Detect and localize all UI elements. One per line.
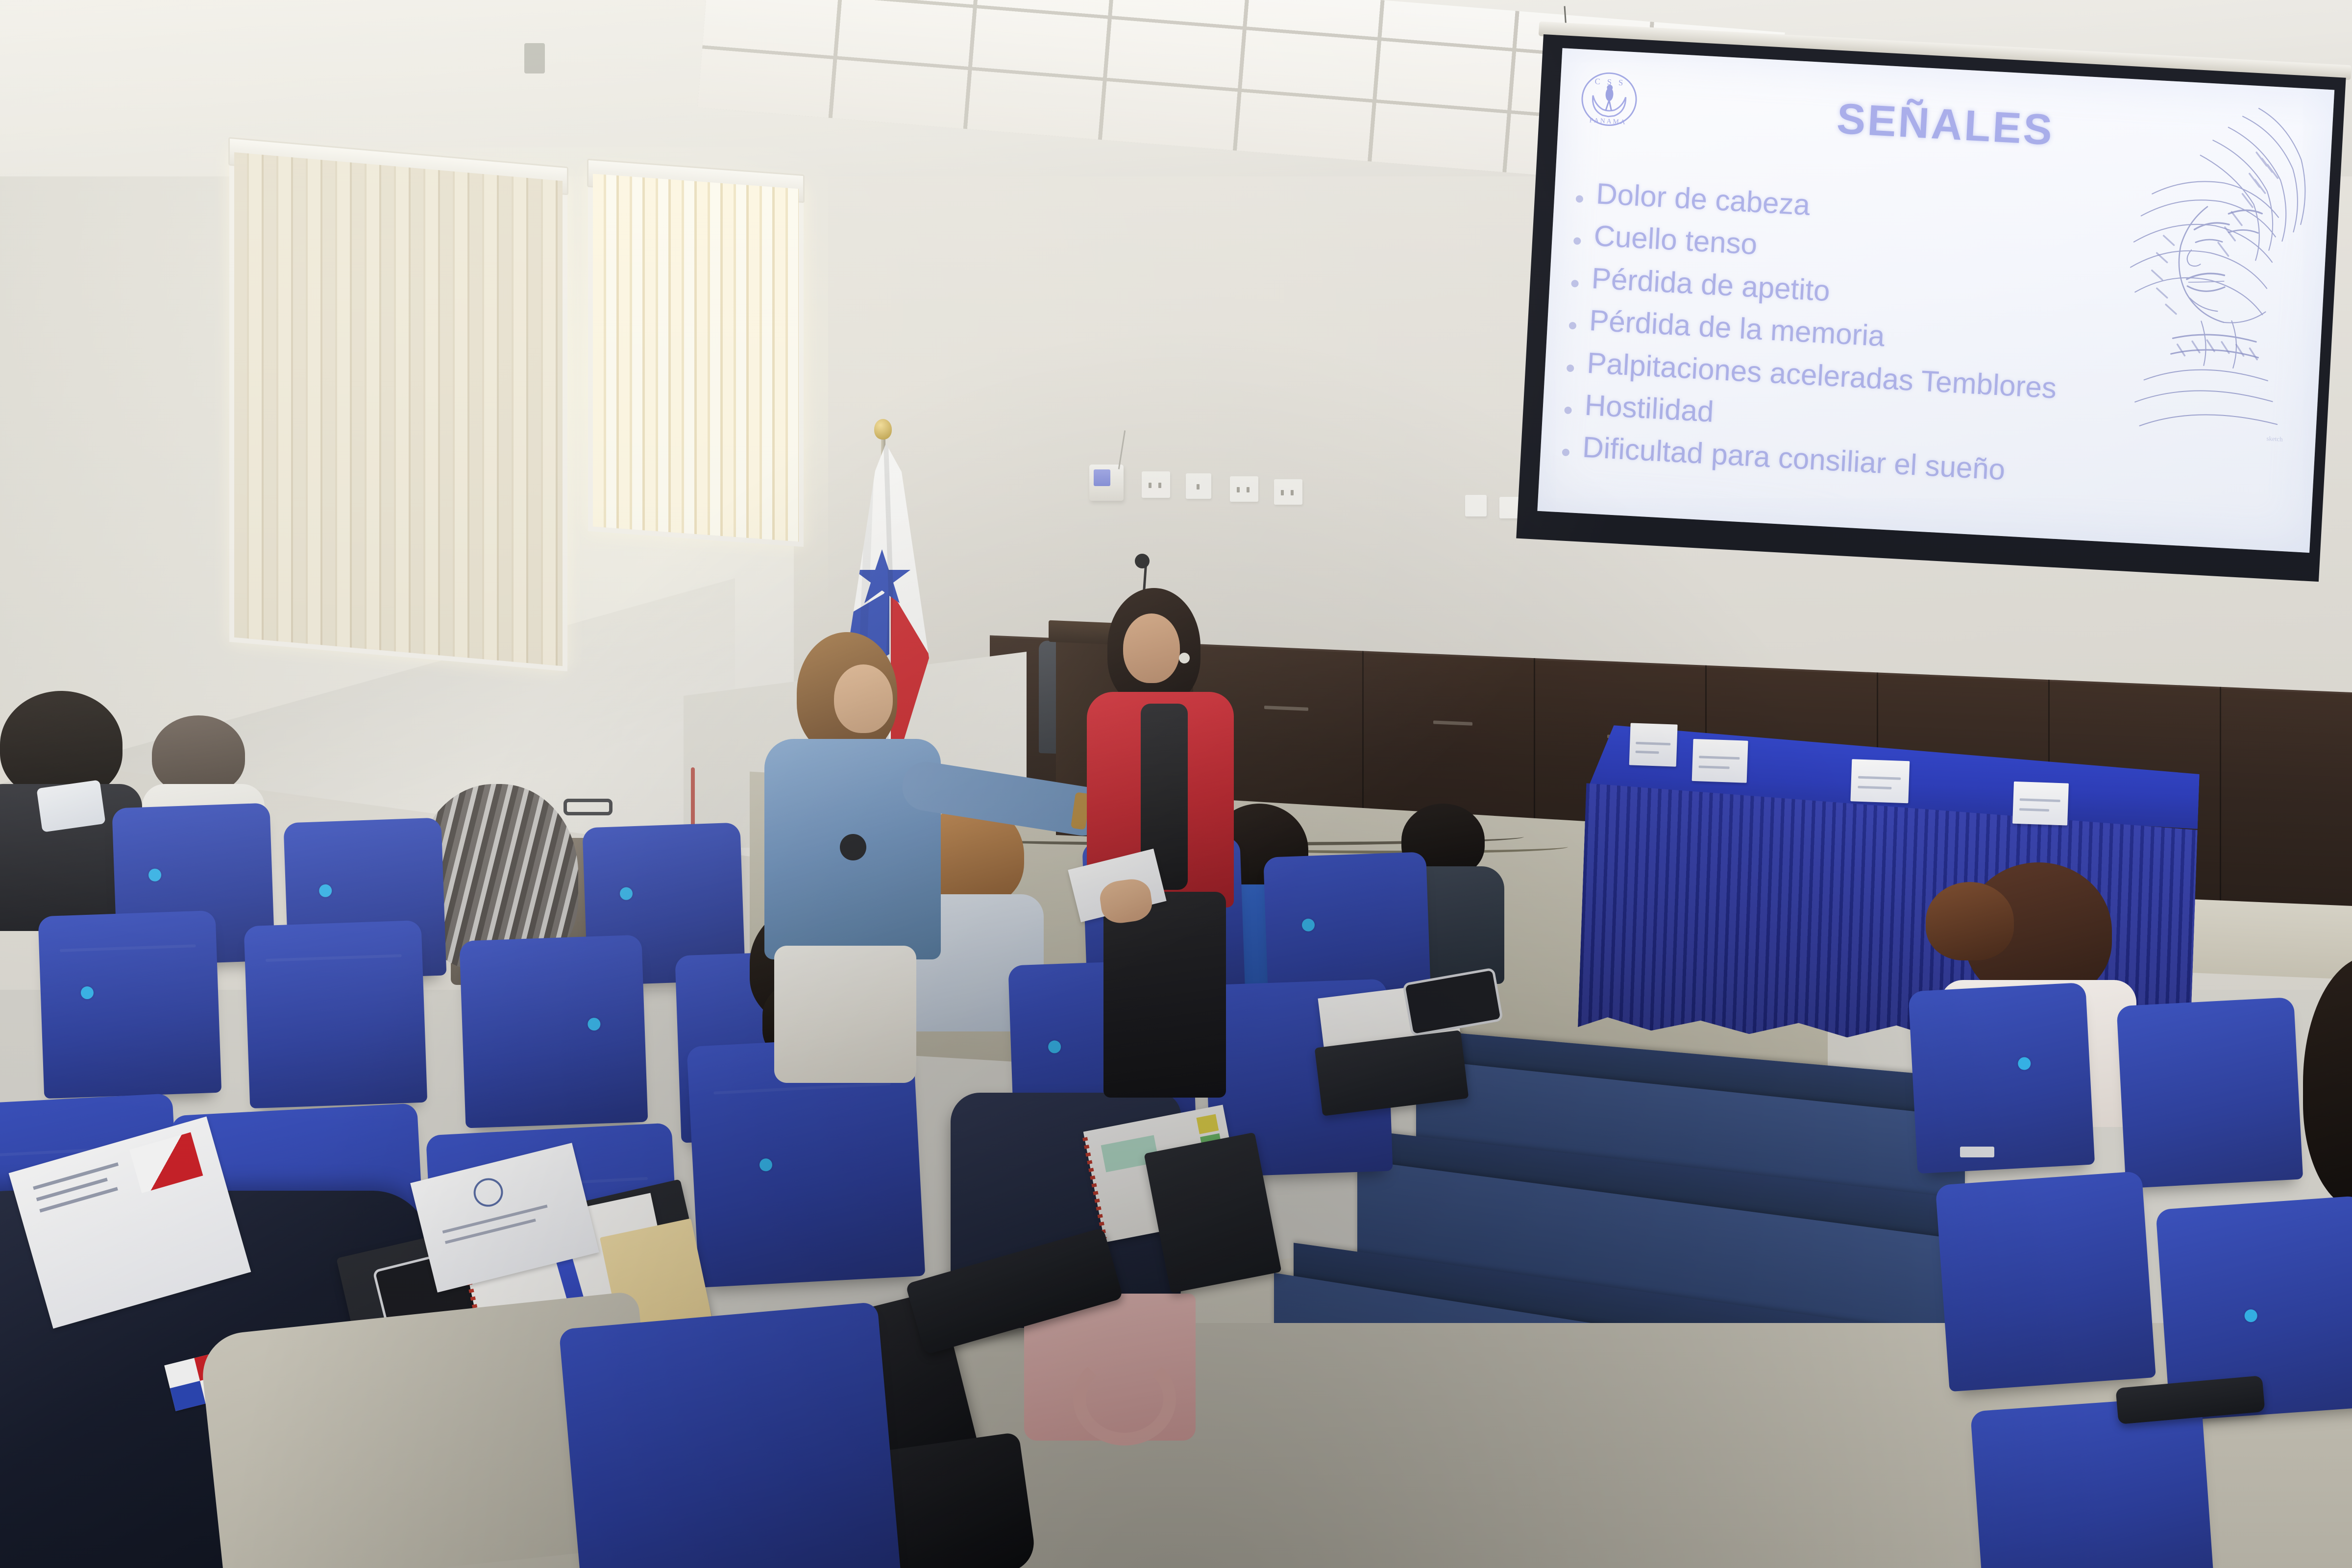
auditorium-seat[interactable] <box>1916 991 2087 1171</box>
bullet-dot-icon <box>1564 406 1572 414</box>
stress-face-sketch-illustration: sketch <box>2093 86 2323 469</box>
window-left <box>229 147 567 671</box>
shirt-collar <box>36 780 105 832</box>
handbag-strap-icon <box>1073 1352 1176 1445</box>
name-card <box>1692 739 1748 783</box>
face <box>834 664 893 733</box>
window-right <box>588 169 804 547</box>
bullet-label: Pérdida de la memoria <box>1589 305 1886 352</box>
projected-slide: C S S PANAMA SEÑALES <box>1537 48 2334 553</box>
auditorium-seat[interactable] <box>1979 1404 2206 1568</box>
hair <box>152 715 245 794</box>
bullet-dot-icon <box>1576 195 1584 203</box>
projection-screen: C S S PANAMA SEÑALES <box>1516 34 2351 597</box>
bullet-dot-icon <box>1573 237 1581 245</box>
hair <box>1926 882 2014 960</box>
microphone-icon <box>1135 554 1150 568</box>
bullet-label: Cuello tenso <box>1593 221 1758 260</box>
auditorium-seat[interactable] <box>467 943 640 1125</box>
earring <box>1179 653 1190 663</box>
name-card <box>1850 759 1910 803</box>
outlet-5[interactable] <box>1465 495 1487 516</box>
outlet-4[interactable] <box>1274 479 1302 505</box>
thermostat-display <box>1094 469 1110 486</box>
vertical-blinds-right[interactable] <box>593 174 799 542</box>
lapel-mic <box>840 834 866 860</box>
vertical-blinds-left[interactable] <box>234 152 563 666</box>
flag-finial-icon <box>874 419 892 440</box>
bullet-label: Dificultad para consiliar el sueño <box>1582 432 2006 486</box>
slide-bullet-list: Dolor de cabeza Cuello tenso Pérdida de … <box>1561 177 2096 501</box>
hair <box>2303 955 2352 1210</box>
auditorium-seat[interactable] <box>567 1310 893 1568</box>
name-card <box>1629 723 1678 766</box>
bullet-dot-icon <box>1567 364 1574 372</box>
bullet-dot-icon <box>1562 449 1570 457</box>
auditorium-seat[interactable] <box>1944 1179 2148 1388</box>
eyeglasses-icon <box>563 799 612 815</box>
auditorium-seat[interactable] <box>252 928 419 1105</box>
outlet-2[interactable] <box>1186 473 1211 499</box>
screen-border: C S S PANAMA SEÑALES <box>1516 34 2346 582</box>
auditorium-seat[interactable] <box>46 918 214 1095</box>
bullet-label: Dolor de cabeza <box>1595 178 1811 220</box>
outlet-3[interactable] <box>1230 476 1258 502</box>
face <box>1123 613 1180 683</box>
smoke-detector-icon <box>524 43 545 73</box>
name-card <box>2012 782 2069 826</box>
svg-text:sketch: sketch <box>2266 435 2283 443</box>
bullet-dot-icon <box>1569 322 1577 330</box>
bullet-label: Pérdida de apetito <box>1591 263 1831 307</box>
hair <box>0 691 122 799</box>
auditorium-scene: C S S PANAMA SEÑALES <box>0 0 2352 1568</box>
outlet-1[interactable] <box>1142 471 1170 498</box>
white-trousers <box>774 946 916 1083</box>
bullet-label: Hostilidad <box>1584 390 1715 428</box>
bullet-dot-icon <box>1571 280 1579 288</box>
auditorium-seat[interactable] <box>2125 1005 2295 1185</box>
seat-label-tag <box>1960 1147 1994 1157</box>
